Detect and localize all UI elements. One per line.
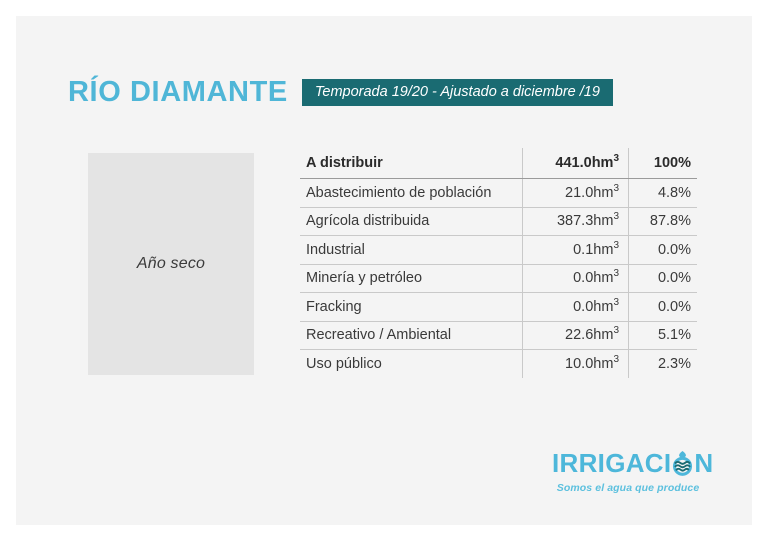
- row-label: Abastecimiento de población: [300, 179, 523, 208]
- row-volume: 0.0hm3: [523, 264, 629, 293]
- row-volume-unit: hm: [593, 356, 613, 372]
- table-row: Abastecimiento de población21.0hm34.8%: [300, 179, 697, 208]
- row-volume: 21.0hm3: [523, 179, 629, 208]
- water-circle-icon: [671, 450, 694, 476]
- table-row: Minería y petróleo0.0hm30.0%: [300, 264, 697, 293]
- row-volume-value: 21.0: [565, 185, 593, 201]
- table-row-total: A distribuir 441.0hm3 100%: [300, 148, 697, 179]
- slide-canvas: RÍO DIAMANTE Temporada 19/20 - Ajustado …: [16, 16, 752, 525]
- logo-tagline: Somos el agua que produce: [552, 482, 704, 494]
- row-volume-value: 0.1: [573, 242, 593, 258]
- total-percent: 100%: [629, 148, 698, 179]
- row-volume: 0.0hm3: [523, 293, 629, 322]
- table-row: Industrial0.1hm30.0%: [300, 236, 697, 265]
- row-volume-unit: hm: [593, 185, 613, 201]
- logo-word-part1: IRRIGACI: [552, 450, 671, 476]
- row-volume-exponent: 3: [613, 354, 619, 365]
- row-volume: 10.0hm3: [523, 350, 629, 378]
- row-label: Minería y petróleo: [300, 264, 523, 293]
- row-volume-exponent: 3: [613, 240, 619, 251]
- row-volume-value: 10.0: [565, 356, 593, 372]
- page-title: RÍO DIAMANTE: [68, 78, 288, 107]
- row-volume-exponent: 3: [613, 297, 619, 308]
- row-percent: 0.0%: [629, 293, 698, 322]
- season-badge: Temporada 19/20 - Ajustado a diciembre /…: [302, 79, 613, 107]
- total-volume: 441.0hm3: [523, 148, 629, 179]
- row-volume-value: 22.6: [565, 327, 593, 343]
- row-volume: 387.3hm3: [523, 207, 629, 236]
- row-percent: 87.8%: [629, 207, 698, 236]
- row-percent: 0.0%: [629, 236, 698, 265]
- row-volume-unit: hm: [593, 299, 613, 315]
- row-label: Fracking: [300, 293, 523, 322]
- table-row: Fracking0.0hm30.0%: [300, 293, 697, 322]
- row-volume: 22.6hm3: [523, 321, 629, 350]
- row-label: Agrícola distribuida: [300, 207, 523, 236]
- row-percent: 2.3%: [629, 350, 698, 378]
- year-type-panel: Año seco: [88, 153, 254, 375]
- total-volume-exponent: 3: [613, 153, 619, 164]
- table-row: Agrícola distribuida387.3hm387.8%: [300, 207, 697, 236]
- row-percent: 0.0%: [629, 264, 698, 293]
- row-volume-value: 0.0: [573, 270, 593, 286]
- row-label: Industrial: [300, 236, 523, 265]
- logo-wordmark: IRRIGACI N: [552, 450, 704, 478]
- table-row: Uso público10.0hm32.3%: [300, 350, 697, 378]
- row-label: Uso público: [300, 350, 523, 378]
- total-volume-unit: hm: [592, 155, 614, 171]
- row-volume-value: 0.0: [573, 299, 593, 315]
- row-volume-exponent: 3: [613, 325, 619, 336]
- total-volume-value: 441.0: [555, 155, 591, 171]
- row-label: Recreativo / Ambiental: [300, 321, 523, 350]
- row-volume-unit: hm: [593, 270, 613, 286]
- header: RÍO DIAMANTE Temporada 19/20 - Ajustado …: [68, 78, 613, 107]
- row-volume: 0.1hm3: [523, 236, 629, 265]
- year-type-label: Año seco: [137, 255, 205, 273]
- table-row: Recreativo / Ambiental22.6hm35.1%: [300, 321, 697, 350]
- row-volume-unit: hm: [593, 242, 613, 258]
- row-volume-exponent: 3: [613, 183, 619, 194]
- row-volume-exponent: 3: [613, 211, 619, 222]
- row-volume-unit: hm: [593, 213, 613, 229]
- logo-word-part2: N: [694, 450, 713, 476]
- row-volume-unit: hm: [593, 327, 613, 343]
- total-label: A distribuir: [300, 148, 523, 179]
- row-volume-value: 387.3: [557, 213, 593, 229]
- row-percent: 4.8%: [629, 179, 698, 208]
- row-percent: 5.1%: [629, 321, 698, 350]
- row-volume-exponent: 3: [613, 268, 619, 279]
- irrigacion-logo: IRRIGACI N Somos el agua que produce: [552, 450, 704, 494]
- distribution-table: A distribuir 441.0hm3 100% Abastecimient…: [300, 148, 697, 378]
